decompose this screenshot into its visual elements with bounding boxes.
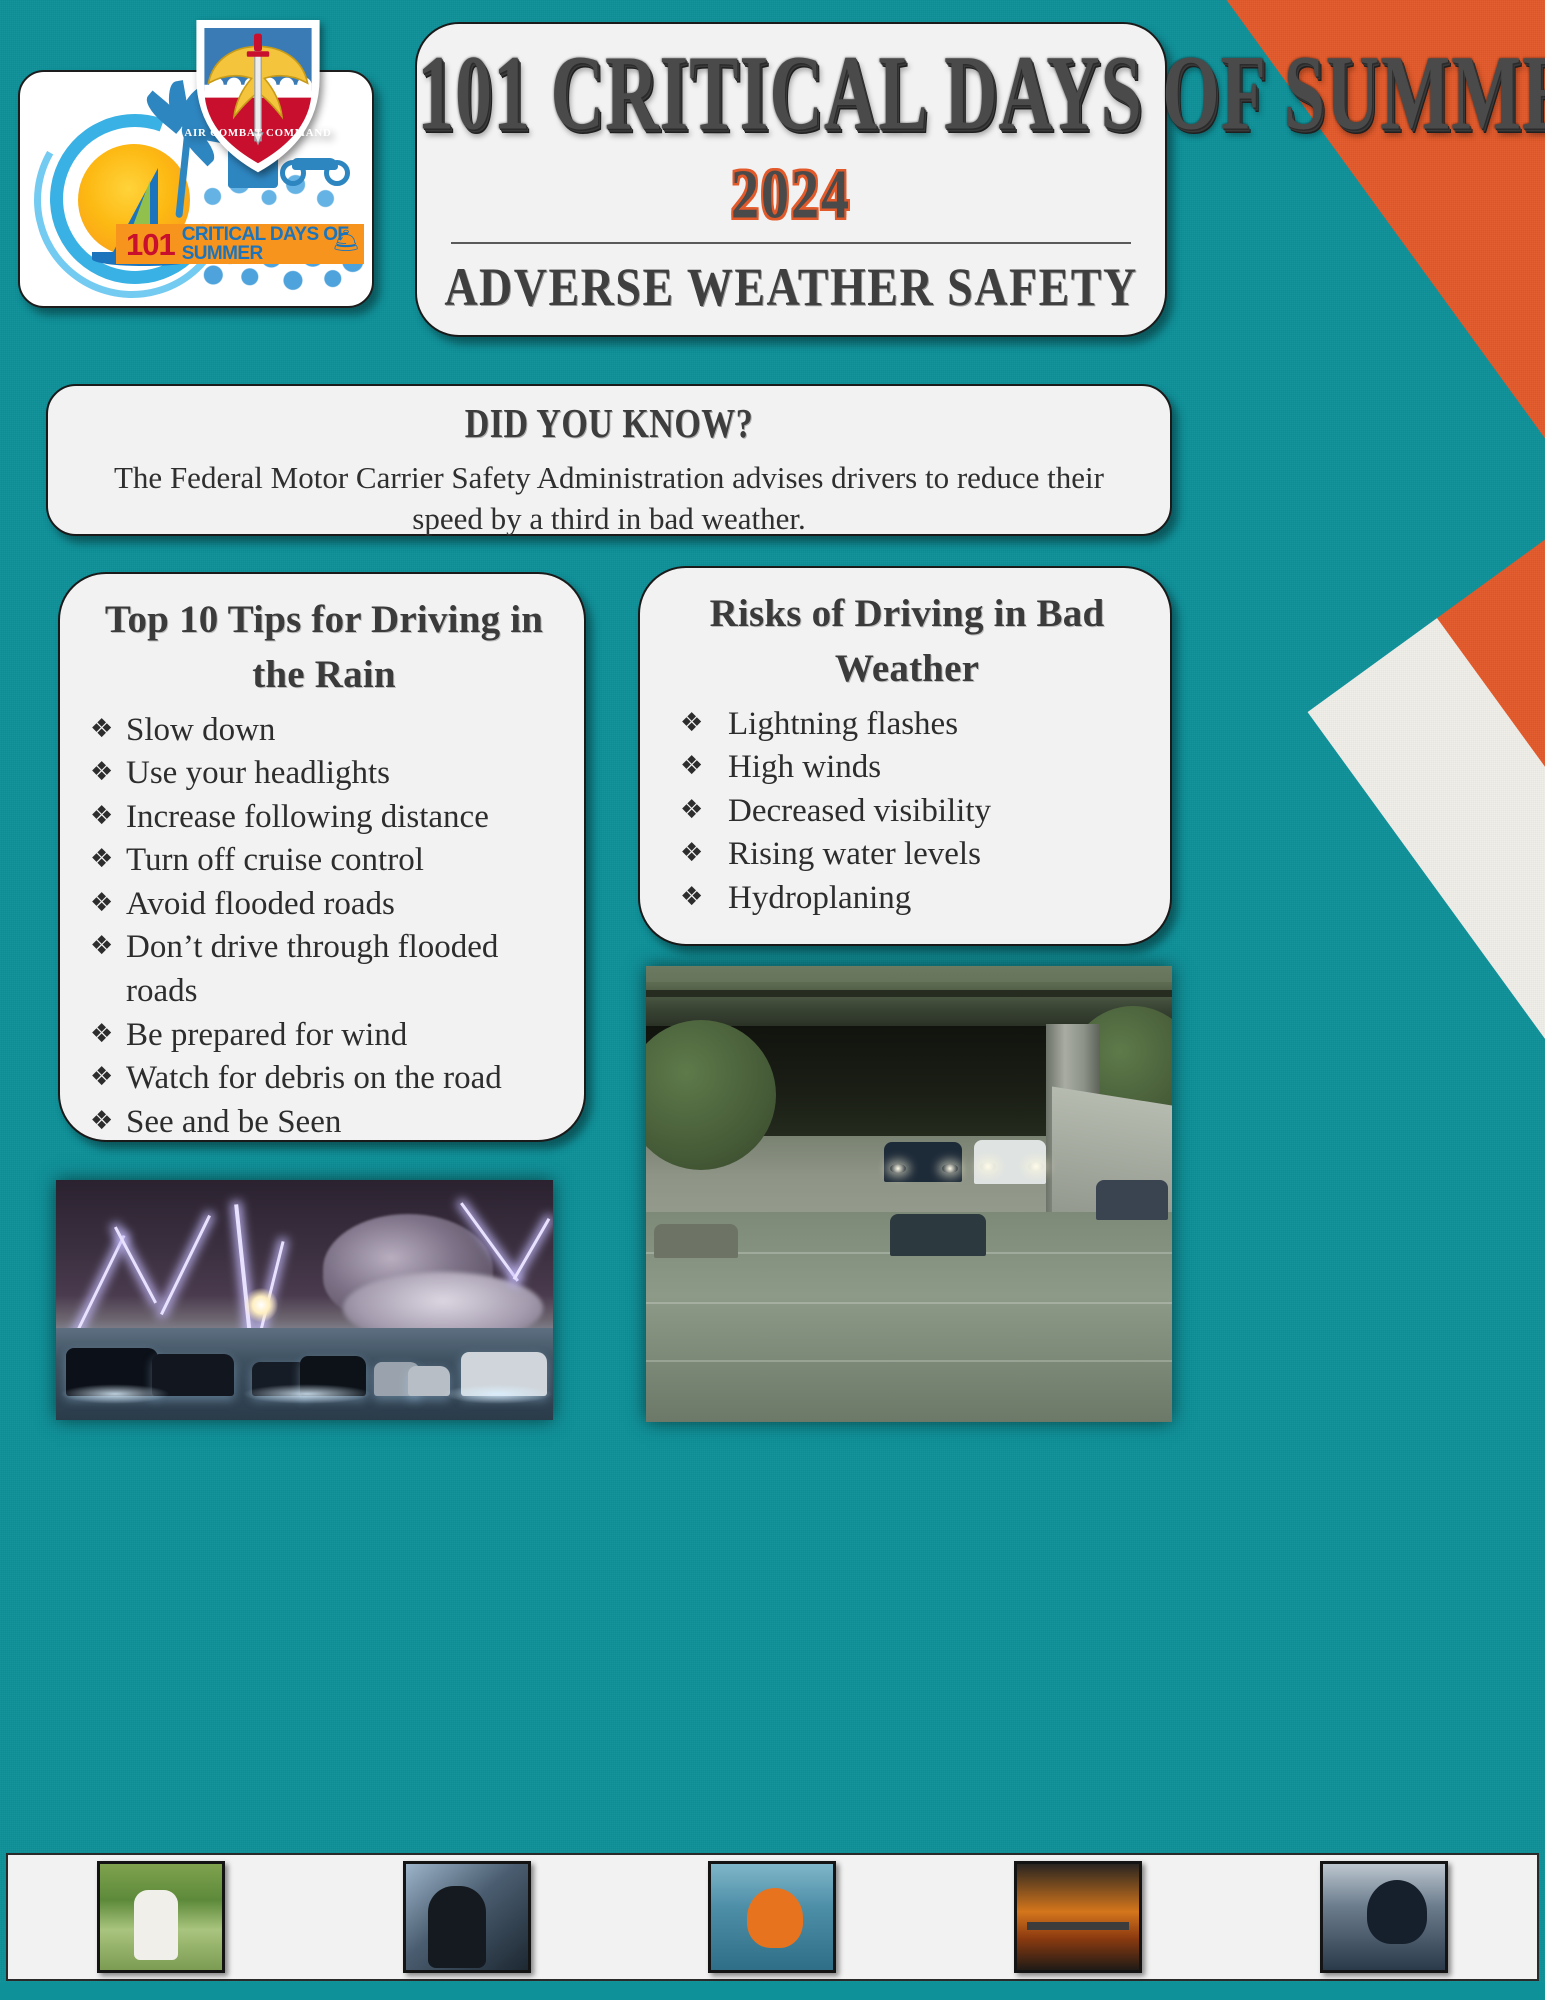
diamond-bullet-icon: ❖ <box>90 752 126 794</box>
list-item-label: Increase following distance <box>126 796 570 840</box>
list-item-label: Watch for debris on the road <box>126 1057 570 1101</box>
hydration-thumbnail <box>97 1861 225 1973</box>
tips-heading: Top 10 Tips for Driving in the Rain <box>78 592 570 703</box>
list-item: ❖Avoid flooded roads <box>78 883 570 927</box>
list-item: ❖Turn off cruise control <box>78 839 570 883</box>
risks-card: Risks of Driving in Bad Weather ❖Lightni… <box>638 566 1172 946</box>
poster-root: 101 CRITICAL DAYS OF SUMMER 🛎 <box>0 0 1545 2000</box>
list-item-label: Rising water levels <box>728 833 1156 877</box>
bottom-teal-bar <box>0 1982 1545 2000</box>
list-item: ❖Increase following distance <box>78 796 570 840</box>
diamond-bullet-icon: ❖ <box>90 796 126 838</box>
list-item-label: Decreased visibility <box>728 790 1156 834</box>
poster-subtitle: ADVERSE WEATHER SAFETY <box>417 260 1165 314</box>
list-item: ❖See and be Seen <box>78 1101 570 1145</box>
grilling-thumbnail <box>1014 1861 1142 1973</box>
tips-list: ❖Slow down❖Use your headlights❖Increase … <box>78 709 570 1144</box>
list-item-label: Use your headlights <box>126 752 570 796</box>
swimming-thumbnail <box>708 1861 836 1973</box>
diamond-bullet-icon: ❖ <box>680 790 728 832</box>
list-item: ❖High winds <box>658 746 1156 790</box>
risks-heading: Risks of Driving in Bad Weather <box>658 586 1156 697</box>
acc-shield: AIR COMBAT COMMAND <box>178 16 338 176</box>
list-item: ❖Slow down <box>78 709 570 753</box>
diamond-bullet-icon: ❖ <box>90 1101 126 1143</box>
list-item-label: Lightning flashes <box>728 703 1156 747</box>
list-item-label: Slow down <box>126 709 570 753</box>
driving-thumbnail <box>403 1861 531 1973</box>
list-item: ❖Hydroplaning <box>658 877 1156 921</box>
list-item: ❖Be prepared for wind <box>78 1014 570 1058</box>
flooded-underpass-photo <box>646 966 1172 1422</box>
list-item-label: Don’t drive through flooded roads <box>126 926 570 1013</box>
title-divider <box>451 242 1131 244</box>
diamond-bullet-icon: ❖ <box>90 839 126 881</box>
diamond-bullet-icon: ❖ <box>90 1057 126 1099</box>
bottom-thumbnail-strip <box>6 1853 1539 1981</box>
lightning-highway-photo <box>56 1180 553 1420</box>
list-item: ❖Watch for debris on the road <box>78 1057 570 1101</box>
motorcycle-thumbnail <box>1320 1861 1448 1973</box>
list-item-label: High winds <box>728 746 1156 790</box>
list-item: ❖Decreased visibility <box>658 790 1156 834</box>
diamond-bullet-icon: ❖ <box>680 833 728 875</box>
diamond-bullet-icon: ❖ <box>90 1014 126 1056</box>
title-card: 101 CRITICAL DAYS OF SUMMER 2024 ADVERSE… <box>415 22 1167 337</box>
diamond-bullet-icon: ❖ <box>680 703 728 745</box>
list-item-label: Be prepared for wind <box>126 1014 570 1058</box>
acc-shield-motto: AIR COMBAT COMMAND <box>184 127 331 139</box>
diamond-bullet-icon: ❖ <box>680 746 728 788</box>
risks-list: ❖Lightning flashes❖High winds❖Decreased … <box>658 703 1156 921</box>
did-you-know-heading: DID YOU KNOW? <box>76 402 1142 448</box>
list-item-label: Hydroplaning <box>728 877 1156 921</box>
list-item-label: See and be Seen <box>126 1101 570 1145</box>
did-you-know-card: DID YOU KNOW? The Federal Motor Carrier … <box>46 384 1172 536</box>
list-item: ❖Rising water levels <box>658 833 1156 877</box>
poster-year: 2024 <box>417 160 1165 230</box>
diamond-bullet-icon: ❖ <box>90 883 126 925</box>
did-you-know-body: The Federal Motor Carrier Safety Adminis… <box>76 457 1142 539</box>
diamond-bullet-icon: ❖ <box>90 709 126 751</box>
diamond-bullet-icon: ❖ <box>90 926 126 968</box>
list-item-label: Turn off cruise control <box>126 839 570 883</box>
list-item: ❖Use your headlights <box>78 752 570 796</box>
list-item: ❖Lightning flashes <box>658 703 1156 747</box>
cds-logo-number: 101 <box>126 229 175 260</box>
list-item: ❖Don’t drive through flooded roads <box>78 926 570 1013</box>
air-force-wings-icon: 🛎 <box>332 230 360 252</box>
cds-logo-ribbon: 101 CRITICAL DAYS OF SUMMER <box>116 224 364 264</box>
tips-card: Top 10 Tips for Driving in the Rain ❖Slo… <box>58 572 586 1142</box>
diamond-bullet-icon: ❖ <box>680 877 728 919</box>
list-item-label: Avoid flooded roads <box>126 883 570 927</box>
poster-title: 101 CRITICAL DAYS OF SUMMER <box>417 40 1165 147</box>
